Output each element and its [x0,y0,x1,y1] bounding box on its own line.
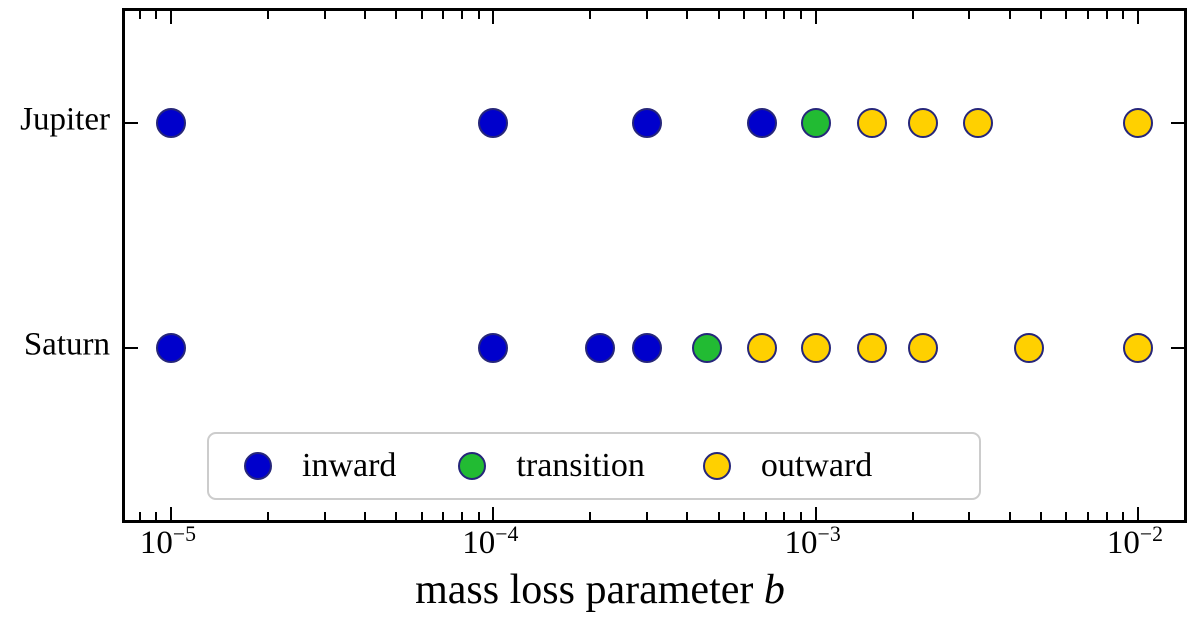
axis-tick-minor [395,512,397,520]
axis-tick-major [492,11,494,24]
ytick-label-jupiter: Jupiter [20,102,110,139]
axis-tick-minor [765,512,767,520]
axis-tick-minor [783,11,785,19]
x-axis-title-text: mass loss parameter [415,567,764,613]
legend-label-inward: inward [302,447,396,485]
axis-tick-minor [1065,11,1067,19]
axis-tick-minor [364,11,366,19]
axis-tick-major [170,507,172,520]
axis-tick-major [492,507,494,520]
axis-tick-minor [718,11,720,19]
xtick-label: 10−5 [140,527,196,560]
legend-label-transition: transition [516,447,644,485]
axis-tick-minor [421,11,423,19]
data-point-inward [156,333,186,363]
data-point-transition [801,108,831,138]
figure-canvas: Jupiter Saturn 10−510−410−310−2 mass los… [0,0,1200,634]
axis-tick-minor [912,11,914,19]
axis-tick-minor [912,512,914,520]
data-point-outward [908,333,938,363]
data-point-outward [857,108,887,138]
axis-tick-minor [1106,11,1108,19]
axis-tick-minor [743,11,745,19]
data-point-outward [1123,333,1153,363]
data-point-inward [585,333,615,363]
data-point-inward [632,333,662,363]
data-point-outward [1014,333,1044,363]
axis-tick-minor [743,512,745,520]
x-axis-title: mass loss parameter b [0,566,1200,614]
axis-tick-minor [461,512,463,520]
axis-tick-minor [324,11,326,19]
axis-tick-minor [478,512,480,520]
x-axis-title-symbol: b [764,567,785,613]
axis-tick-row [1171,122,1184,124]
axis-tick-minor [1009,512,1011,520]
legend-marker-inward-icon [244,452,272,480]
data-point-inward [156,108,186,138]
axis-tick-minor [800,11,802,19]
legend-entry-transition: transition [458,447,644,485]
axis-tick-minor [686,11,688,19]
legend-entry-outward: outward [703,447,872,485]
axis-tick-major [1137,507,1139,520]
data-point-outward [801,333,831,363]
axis-tick-minor [783,512,785,520]
axis-tick-minor [765,11,767,19]
data-point-outward [908,108,938,138]
axis-tick-row [125,347,138,349]
axis-tick-minor [1122,512,1124,520]
axis-tick-minor [1040,11,1042,19]
axis-tick-row [125,122,138,124]
axis-tick-minor [1087,11,1089,19]
data-point-inward [747,108,777,138]
data-point-outward [857,333,887,363]
data-point-inward [478,108,508,138]
data-point-outward [1123,108,1153,138]
xtick-label: 10−2 [1107,527,1163,560]
data-point-transition [692,333,722,363]
axis-tick-minor [589,11,591,19]
axis-tick-minor [968,512,970,520]
axis-tick-minor [267,11,269,19]
xtick-label: 10−3 [785,527,841,560]
axis-tick-major [815,507,817,520]
axis-tick-major [170,11,172,24]
data-point-outward [963,108,993,138]
axis-tick-minor [1040,512,1042,520]
axis-tick-minor [324,512,326,520]
axis-tick-minor [1087,512,1089,520]
axis-tick-minor [686,512,688,520]
axis-tick-minor [1122,11,1124,19]
axis-tick-minor [155,512,157,520]
axis-tick-minor [461,11,463,19]
axis-tick-minor [968,11,970,19]
xtick-label: 10−4 [462,527,518,560]
legend-marker-outward-icon [703,452,731,480]
axis-tick-minor [155,11,157,19]
legend-box: inward transition outward [207,432,981,500]
axis-tick-minor [364,512,366,520]
axis-tick-row [1171,347,1184,349]
axis-tick-minor [800,512,802,520]
legend-marker-transition-icon [458,452,486,480]
axis-tick-minor [718,512,720,520]
axis-tick-minor [589,512,591,520]
axis-tick-minor [646,512,648,520]
axis-tick-major [815,11,817,24]
axis-tick-minor [139,512,141,520]
axis-tick-minor [478,11,480,19]
legend-label-outward: outward [761,447,872,485]
axis-tick-minor [442,512,444,520]
data-point-outward [747,333,777,363]
axis-tick-major [1137,11,1139,24]
axis-tick-minor [139,11,141,19]
axis-tick-minor [442,11,444,19]
axis-tick-minor [421,512,423,520]
axis-tick-minor [1106,512,1108,520]
data-point-inward [632,108,662,138]
legend-entry-inward: inward [244,447,396,485]
axis-tick-minor [267,512,269,520]
data-point-inward [478,333,508,363]
ytick-label-saturn: Saturn [24,327,110,364]
axis-tick-minor [1009,11,1011,19]
axis-tick-minor [395,11,397,19]
axis-tick-minor [646,11,648,19]
axis-tick-minor [1065,512,1067,520]
